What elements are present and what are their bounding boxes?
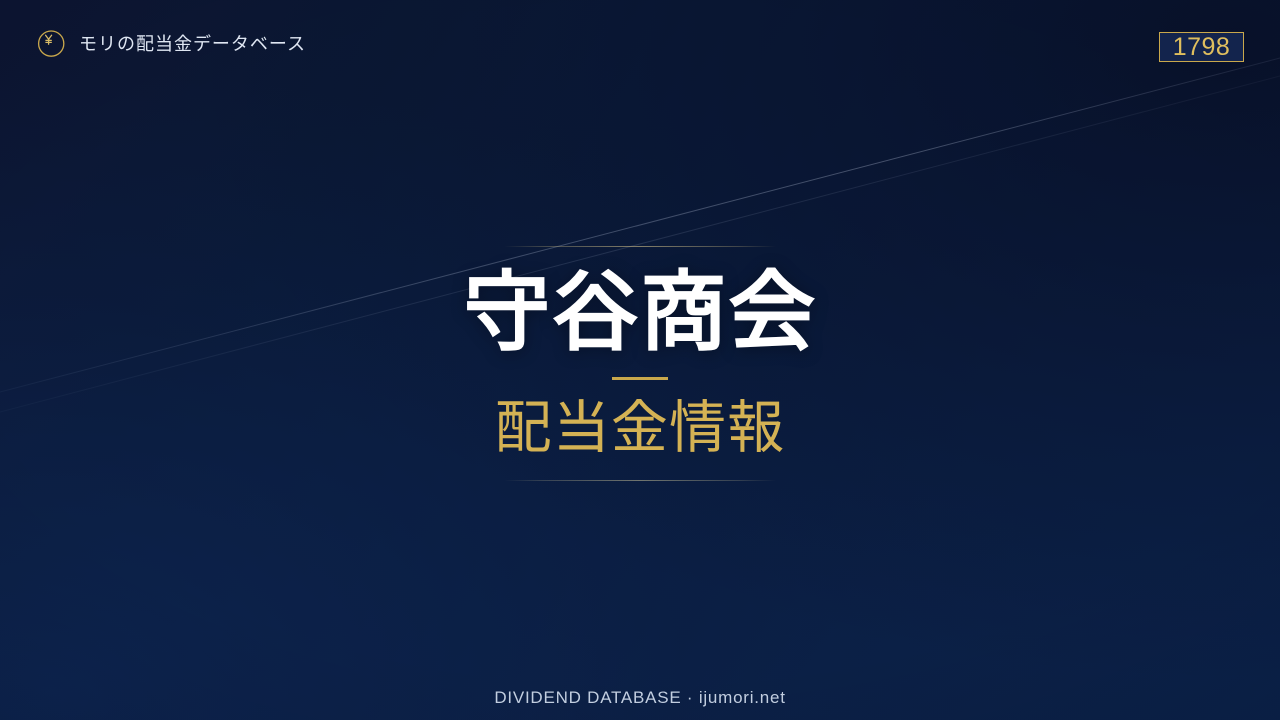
security-code-badge[interactable]: 1798	[1159, 32, 1244, 62]
brand-name-label: モリの配当金データベース	[79, 30, 306, 56]
security-code-label: 1798	[1173, 33, 1230, 61]
page-subtitle: 配当金情報	[495, 397, 786, 460]
title-top-rule	[504, 246, 776, 247]
brand-lockup[interactable]: モリの配当金データベース	[36, 28, 306, 58]
title-slide: モリの配当金データベース 1798 守谷商会 配当金情報 DIVIDEND DA…	[0, 0, 1280, 720]
company-name-heading: 守谷商会	[463, 267, 816, 359]
slide-header: モリの配当金データベース 1798	[0, 0, 1280, 88]
title-block: 守谷商会 配当金情報	[0, 246, 1280, 481]
yen-circle-icon	[36, 28, 66, 58]
gold-divider	[612, 377, 668, 380]
slide-footer: DIVIDEND DATABASE · ijumori.net	[0, 688, 1280, 708]
title-bottom-rule	[504, 480, 776, 481]
